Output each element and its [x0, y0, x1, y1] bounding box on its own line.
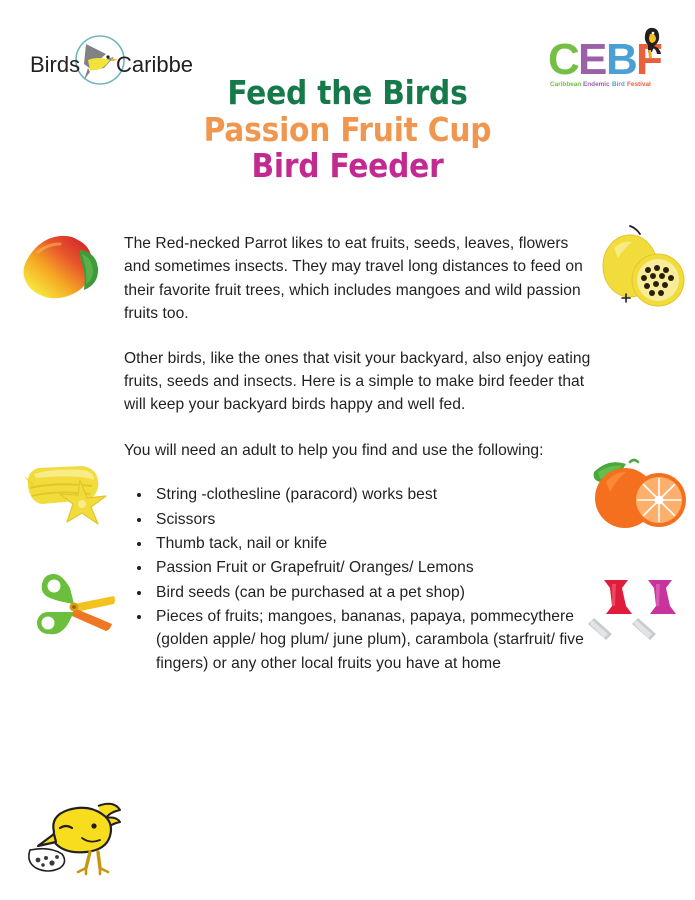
- push-pin-magenta: [632, 580, 676, 640]
- passion-fruit-illustration: [596, 224, 688, 312]
- poster-title: Feed the Birds Passion Fruit Cup Bird Fe…: [0, 76, 695, 183]
- svg-text:Caribbean: Caribbean: [116, 52, 194, 77]
- orange-illustration: [592, 452, 688, 534]
- title-line-2: Passion Fruit Cup: [0, 113, 695, 147]
- body-content: The Red-necked Parrot likes to eat fruit…: [124, 232, 594, 676]
- list-item: Bird seeds (can be purchased at a pet sh…: [152, 581, 594, 604]
- bird-sticker-illustration: [24, 788, 136, 886]
- title-line-1: Feed the Birds: [0, 76, 695, 110]
- list-item: Scissors: [152, 508, 594, 531]
- poster-page: Birds Caribbean C E B F Caribbean Endemi…: [0, 0, 695, 900]
- list-item: Thumb tack, nail or knife: [152, 532, 594, 555]
- list-item: Passion Fruit or Grapefruit/ Oranges/ Le…: [152, 556, 594, 579]
- carambola-illustration: [20, 452, 112, 526]
- title-line-3: Bird Feeder: [0, 149, 695, 183]
- paragraph-materials-intro: You will need an adult to help you find …: [124, 439, 594, 462]
- list-item: Pieces of fruits; mangoes, bananas, papa…: [152, 605, 594, 675]
- paragraph-parrot-diet: The Red-necked Parrot likes to eat fruit…: [124, 232, 594, 326]
- scissors-illustration: [30, 562, 116, 646]
- paragraph-backyard-birds: Other birds, like the ones that visit yo…: [124, 347, 594, 417]
- mango-illustration: [16, 226, 108, 306]
- push-pins-illustration: [582, 572, 680, 650]
- svg-text:Birds: Birds: [30, 52, 80, 77]
- list-item: String -clothesline (paracord) works bes…: [152, 483, 594, 506]
- push-pin-red: [588, 580, 632, 640]
- materials-list: String -clothesline (paracord) works bes…: [124, 483, 594, 675]
